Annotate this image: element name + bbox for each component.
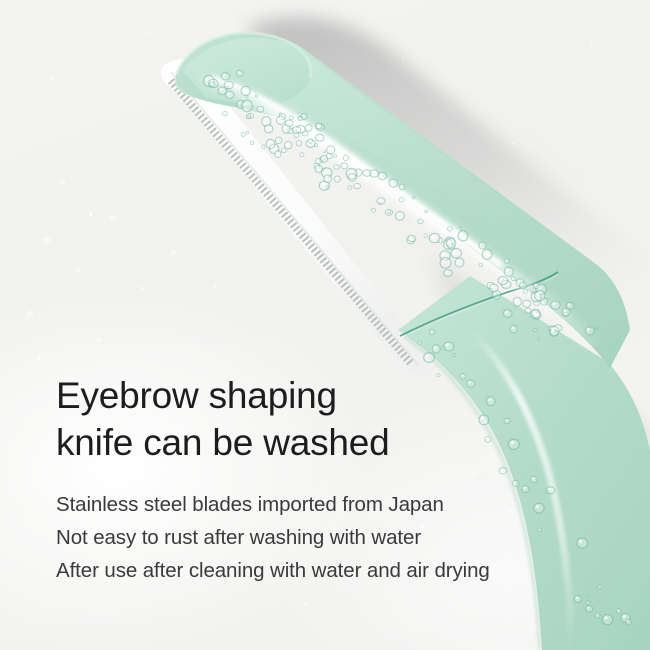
headline-line-1: Eyebrow shaping <box>56 372 616 419</box>
marketing-copy: Eyebrow shaping knife can be washed Stai… <box>56 372 616 587</box>
product-marketing-image: Eyebrow shaping knife can be washed Stai… <box>0 0 650 650</box>
feature-item: After use after cleaning with water and … <box>56 554 616 587</box>
feature-item: Stainless steel blades imported from Jap… <box>56 488 616 521</box>
headline-line-2: knife can be washed <box>56 419 616 466</box>
feature-list: Stainless steel blades imported from Jap… <box>56 488 616 587</box>
feature-item: Not easy to rust after washing with wate… <box>56 521 616 554</box>
